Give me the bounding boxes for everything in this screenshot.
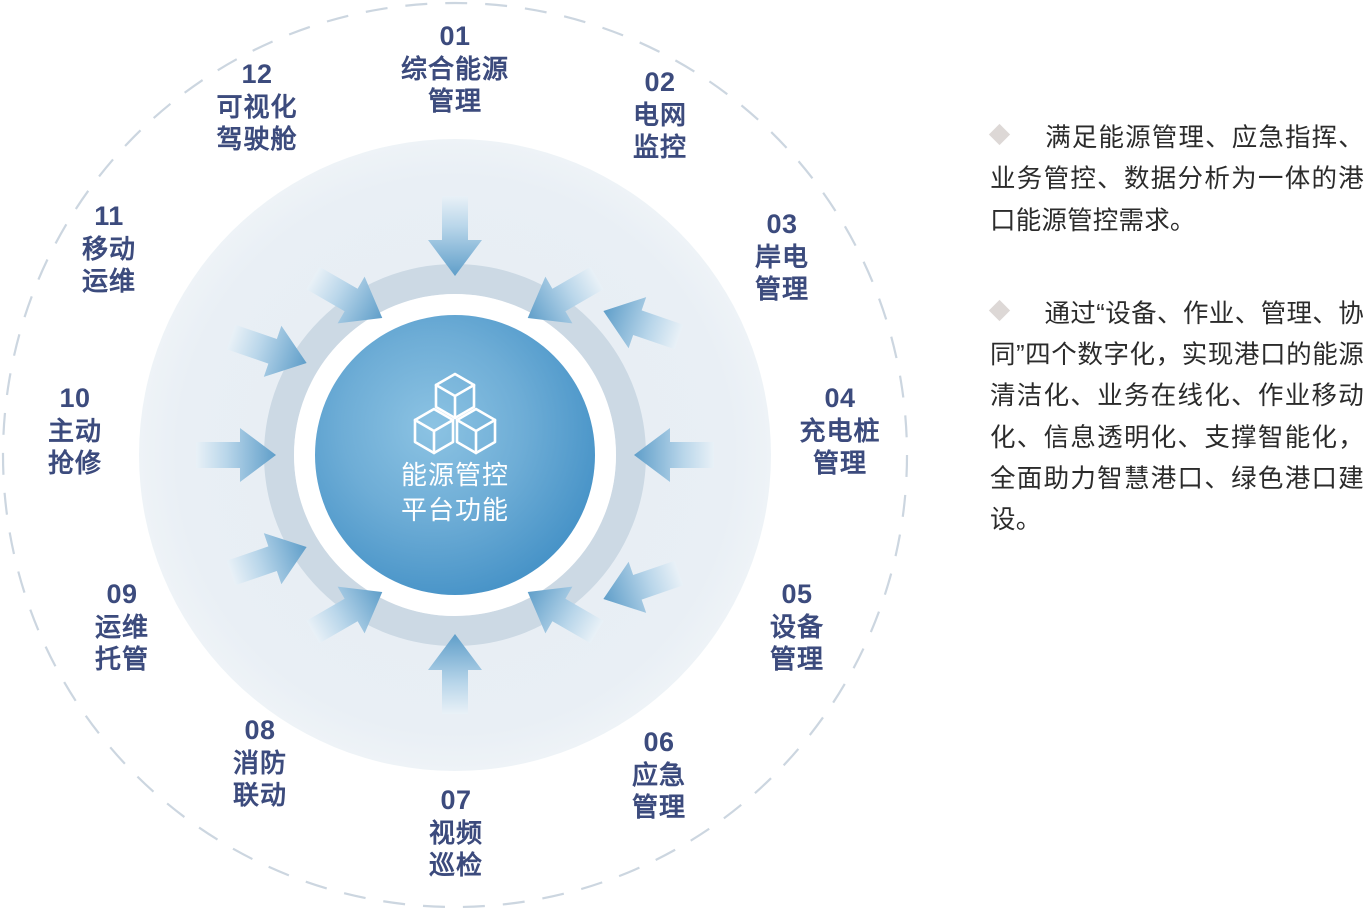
spoke-06[interactable]: 06 应急 管理 [584,726,734,823]
radial-diagram: 能源管控 平台功能 01 综合能源 管理 02 电网 监控 03 岸电 管理 0… [0,0,960,915]
spoke-12[interactable]: 12 可视化 驾驶舱 [182,58,332,155]
spoke-09-line2: 托管 [47,644,197,676]
spoke-08-number: 08 [185,714,335,747]
spoke-08[interactable]: 08 消防 联动 [185,714,335,811]
spoke-02[interactable]: 02 电网 监控 [585,66,735,163]
spoke-03-number: 03 [707,208,857,241]
spoke-10-line1: 主动 [0,416,150,448]
spoke-12-line1: 可视化 [182,92,332,124]
spoke-12-number: 12 [182,58,332,91]
diamond-bullet-icon [989,124,1010,145]
spoke-01[interactable]: 01 综合能源 管理 [380,20,530,117]
spoke-09[interactable]: 09 运维 托管 [47,578,197,675]
spoke-12-line2: 驾驶舱 [182,124,332,156]
spoke-05[interactable]: 05 设备 管理 [722,578,872,675]
spoke-03-line2: 管理 [707,274,857,306]
spoke-03-line1: 岸电 [707,242,857,274]
spoke-02-line1: 电网 [585,100,735,132]
spoke-07-number: 07 [381,784,531,817]
spoke-04-line2: 管理 [765,448,915,480]
note-item: 满足能源管理、应急指挥、业务管控、数据分析为一体的港口能源管控需求。 [990,118,1364,242]
diamond-bullet-icon [989,300,1010,321]
spoke-06-line1: 应急 [584,760,734,792]
spoke-07-line2: 巡检 [381,850,531,882]
spoke-10-line2: 抢修 [0,448,150,480]
spoke-09-line1: 运维 [47,612,197,644]
spoke-04[interactable]: 04 充电桩 管理 [765,382,915,479]
spoke-01-line1: 综合能源 [380,54,530,86]
spoke-05-line1: 设备 [722,612,872,644]
spoke-08-line1: 消防 [185,748,335,780]
spoke-02-number: 02 [585,66,735,99]
notes-column: 满足能源管理、应急指挥、业务管控、数据分析为一体的港口能源管控需求。 通过“设备… [990,118,1364,594]
spoke-01-number: 01 [380,20,530,53]
spoke-11-number: 11 [34,200,184,233]
spoke-11-line2: 运维 [34,266,184,298]
note-text: 通过“设备、作业、管理、协同”四个数字化，实现港口的能源清洁化、业务在线化、作业… [990,300,1364,534]
hub-circle [315,315,595,595]
spoke-08-line2: 联动 [185,780,335,812]
spoke-04-number: 04 [765,382,915,415]
spoke-11[interactable]: 11 移动 运维 [34,200,184,297]
note-text: 满足能源管理、应急指挥、业务管控、数据分析为一体的港口能源管控需求。 [990,124,1364,235]
spoke-04-line1: 充电桩 [765,416,915,448]
spoke-05-number: 05 [722,578,872,611]
note-item: 通过“设备、作业、管理、协同”四个数字化，实现港口的能源清洁化、业务在线化、作业… [990,294,1364,542]
spoke-01-line2: 管理 [380,86,530,118]
spoke-07-line1: 视频 [381,818,531,850]
spoke-07[interactable]: 07 视频 巡检 [381,784,531,881]
spoke-10[interactable]: 10 主动 抢修 [0,382,150,479]
spoke-11-line1: 移动 [34,234,184,266]
spoke-06-number: 06 [584,726,734,759]
spoke-09-number: 09 [47,578,197,611]
spoke-05-line2: 管理 [722,644,872,676]
spoke-03[interactable]: 03 岸电 管理 [707,208,857,305]
spoke-10-number: 10 [0,382,150,415]
spoke-06-line2: 管理 [584,792,734,824]
spoke-02-line2: 监控 [585,132,735,164]
